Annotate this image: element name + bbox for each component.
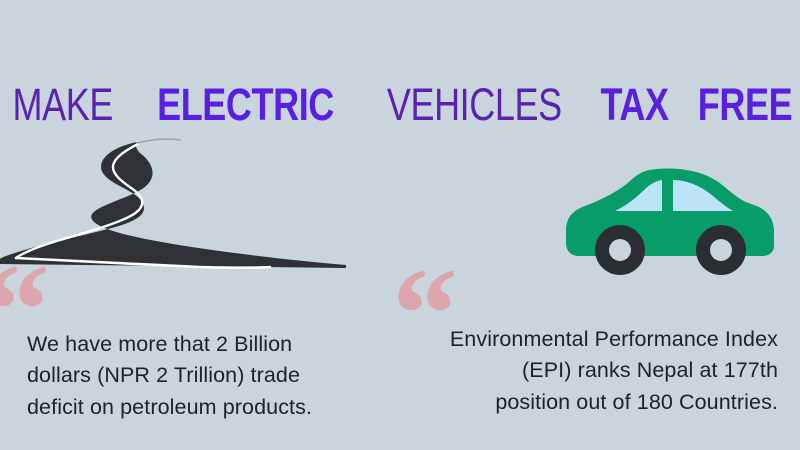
headline-word-tax: TAX [601,82,669,127]
car-wheel-front-hub [609,239,631,261]
road-tail [138,139,180,143]
road-surface [0,142,346,268]
headline-word-electric: ELECTRIC [157,82,334,127]
headline-word-make: MAKE [13,82,113,127]
quote-card-petroleum: “ We have more that 2 Billion dollars (N… [0,272,380,412]
quote-text-petroleum: We have more that 2 Billion dollars (NPR… [27,329,357,424]
winding-road-icon [0,138,374,278]
car-wheel-rear-hub [710,239,732,261]
quote-text-epi: Environmental Performance Index (EPI) ra… [448,324,778,419]
quote-card-epi: “ Environmental Performance Index (EPI) … [392,272,800,422]
infographic-poster: MAKEELECTRICVEHICLESTAXFREE “ We have mo… [0,0,800,450]
headline-word-vehicles: VEHICLES [386,82,561,127]
page-title: MAKEELECTRICVEHICLESTAXFREE [0,82,800,127]
green-car-icon [563,158,783,282]
headline-word-free: FREE [698,82,792,127]
